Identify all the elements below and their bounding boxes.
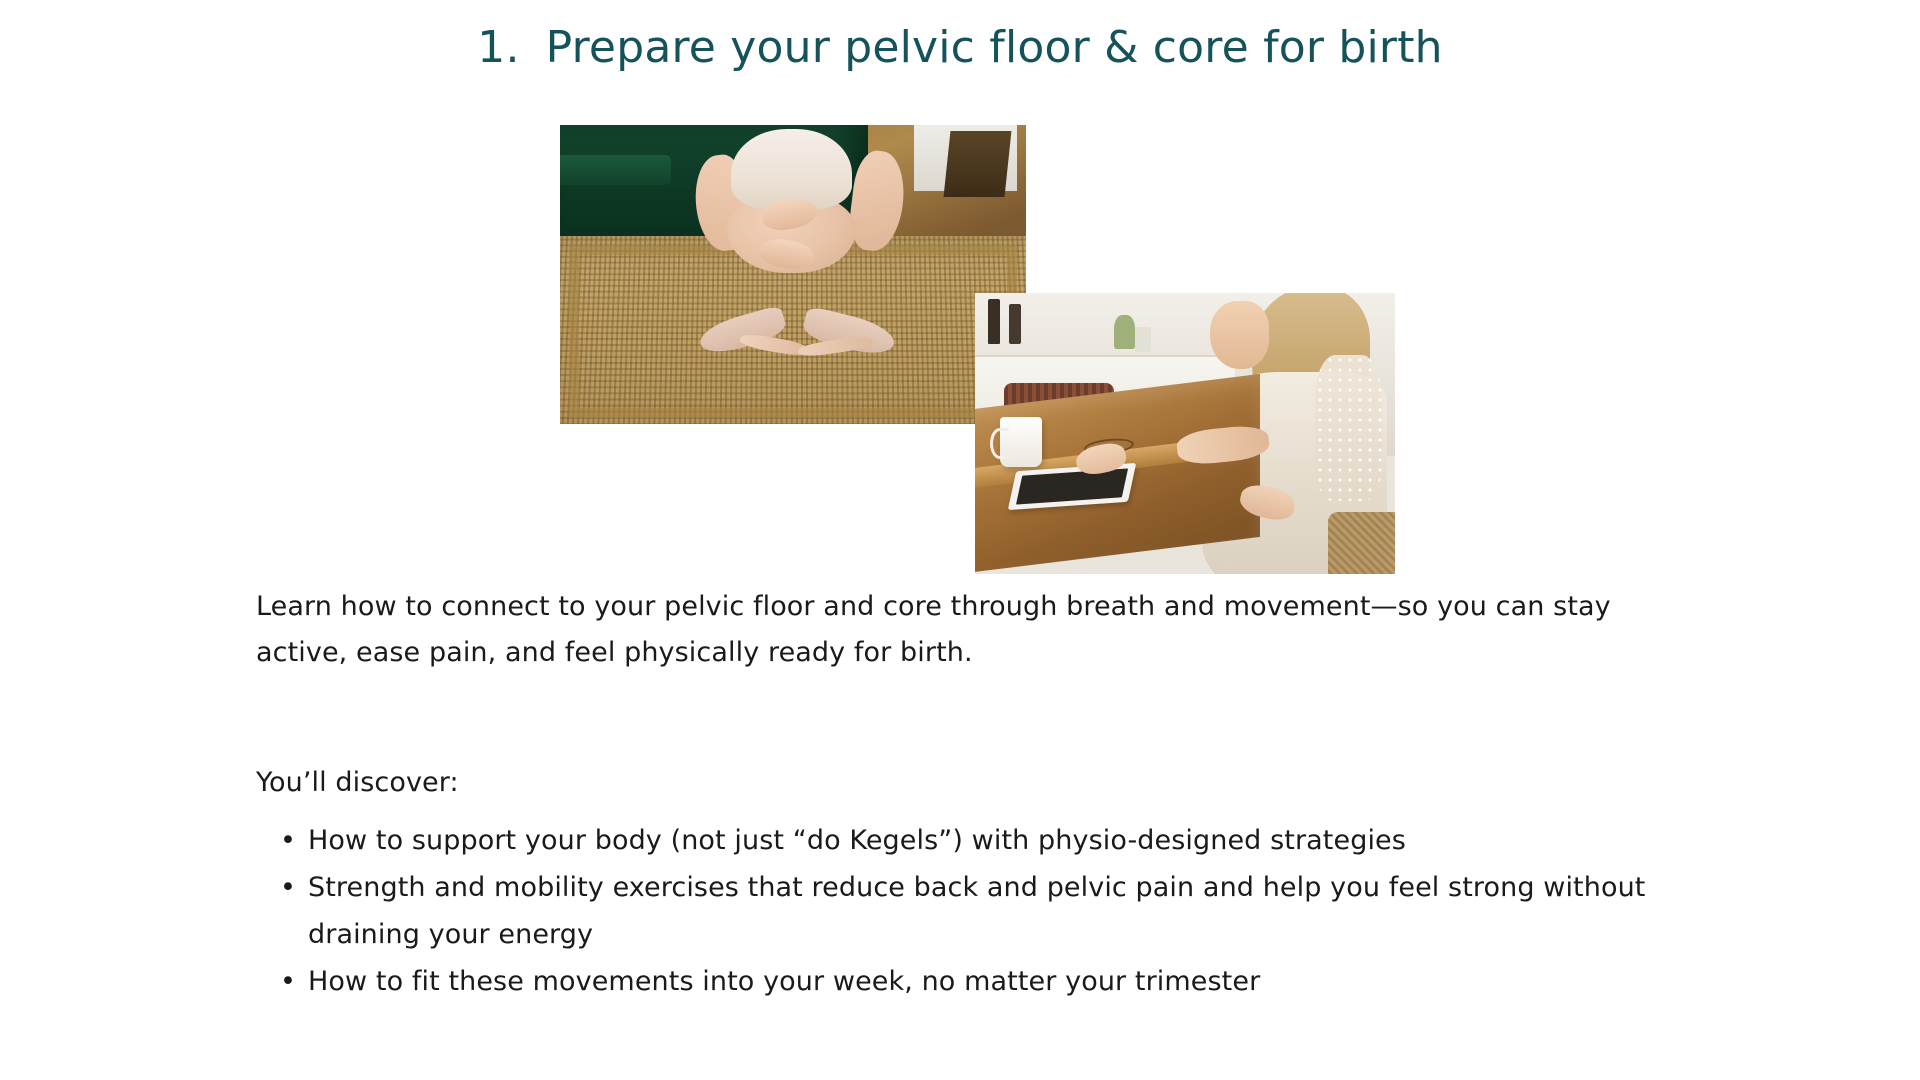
wicker-chair [1328,512,1395,574]
list-item: • How to fit these movements into your w… [256,959,1676,1005]
bottle-one [988,299,1001,344]
pregnant-woman-sitting-crosslegged-on-rug-image [560,125,1026,424]
discover-label: You’ll discover: [256,760,459,806]
mug-handle [990,428,1010,459]
bullet-icon: • [280,959,296,1005]
pink-pants [653,257,942,377]
bullet-icon: • [280,818,296,864]
intro-paragraph-block: Learn how to connect to your pelvic floo… [256,584,1704,677]
page-title: 1. Prepare your pelvic floor & core for … [0,22,1920,73]
pregnant-woman-using-tablet-at-kitchen-table-image [975,293,1395,574]
intro-paragraph: Learn how to connect to your pelvic floo… [256,584,1704,677]
list-item-label: Strength and mobility exercises that red… [308,872,1645,949]
woman-face [1210,301,1269,368]
list-item-label: How to fit these movements into your wee… [308,966,1260,997]
benefits-list: • How to support your body (not just “do… [256,818,1676,1007]
slide-canvas: 1. Prepare your pelvic floor & core for … [0,0,1920,1080]
small-plant [1114,315,1135,349]
list-item: • Strength and mobility exercises that r… [256,865,1676,958]
lace-sleeve [1315,355,1382,501]
wooden-chair [943,131,1010,197]
title-text: Prepare your pelvic floor & core for bir… [546,22,1443,73]
bottle-two [1009,304,1022,343]
bullet-icon: • [280,865,296,911]
glass-jar [1135,327,1152,352]
title-number: 1. [477,22,519,73]
list-item: • How to support your body (not just “do… [256,818,1676,864]
tablet-screen [1016,468,1128,504]
list-item-label: How to support your body (not just “do K… [308,825,1406,856]
sofa-seat-cushion [560,155,671,185]
